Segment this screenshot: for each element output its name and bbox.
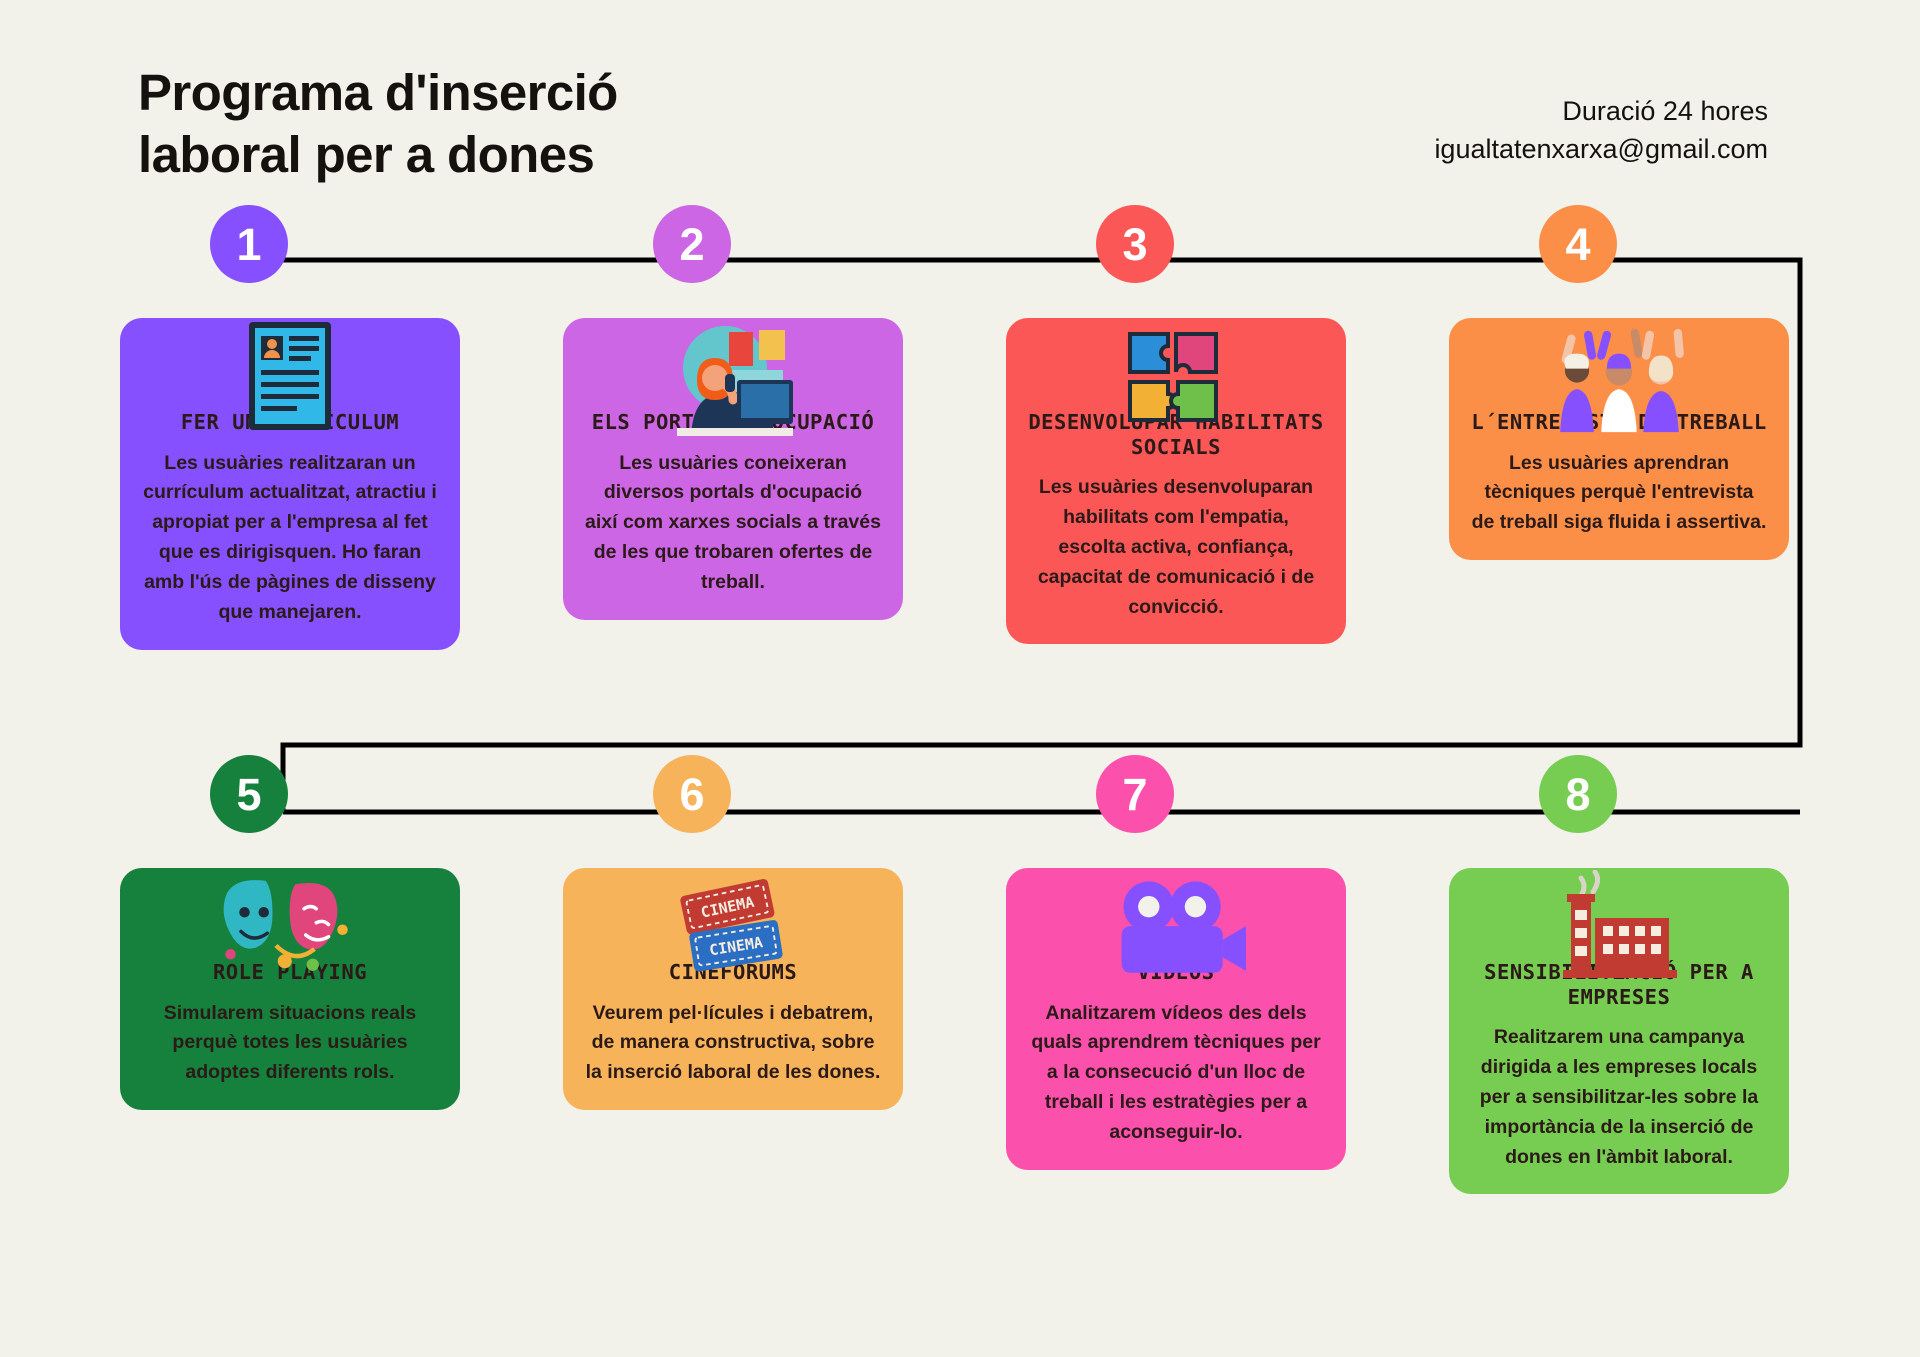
step-body-2: Les usuàries coneixeran diversos portals… [585, 449, 881, 598]
step-card-1[interactable]: FER UN CURRÍCULUM Les usuàries realitzar… [120, 318, 460, 650]
step-body-8: Realitzarem una campanya dirigida a les … [1471, 1023, 1767, 1172]
step-body-4: Les usuàries aprendran tècniques perquè … [1471, 449, 1767, 538]
step-card-8[interactable]: SENSIBILITZACIÓ PER A EMPRESES Realitzar… [1449, 868, 1789, 1194]
step-body-3: Les usuàries desenvoluparan habilitats c… [1028, 473, 1324, 622]
step-body-5: Simularem situacions reals perquè totes … [142, 999, 438, 1088]
page-title: Programa d'inserció laboral per a dones [138, 62, 618, 186]
factory-icon [1549, 858, 1689, 986]
infographic-page: Programa d'inserció laboral per a dones … [0, 0, 1920, 1357]
step-card-5[interactable]: ROLE PLAYING Simularem situacions reals … [120, 868, 460, 1110]
theatre-masks-icon [220, 858, 360, 986]
step-card-6[interactable]: CINEMA CINEMA CINEFORUMS Veurem pel·lícu… [563, 868, 903, 1110]
header-meta: Duració 24 hores igualtatenxarxa@gmail.c… [1434, 92, 1768, 169]
step-number-badge-1: 1 [210, 205, 288, 283]
step-body-6: Veurem pel·lícules i debatrem, de manera… [585, 999, 881, 1088]
step-body-1: Les usuàries realitzaran un currículum a… [142, 449, 438, 628]
step-number-badge-8: 8 [1539, 755, 1617, 833]
step-number-badge-5: 5 [210, 755, 288, 833]
woman-at-desk-icon [663, 308, 803, 436]
step-card-4[interactable]: L´ENTREVISTA DE TREBALL Les usuàries apr… [1449, 318, 1789, 560]
header: Programa d'inserció laboral per a dones … [0, 0, 1920, 190]
puzzle-pieces-icon [1106, 308, 1246, 436]
step-number-badge-3: 3 [1096, 205, 1174, 283]
step-card-3[interactable]: DESENVOLUPAR HABILITATS SOCIALS Les usuà… [1006, 318, 1346, 644]
step-body-7: Analitzarem vídeos des dels quals aprend… [1028, 999, 1324, 1148]
duration-text: Duració 24 hores [1434, 92, 1768, 130]
step-number-badge-7: 7 [1096, 755, 1174, 833]
email-text: igualtatenxarxa@gmail.com [1434, 130, 1768, 168]
cinema-tickets-icon: CINEMA CINEMA [663, 858, 803, 986]
step-card-2[interactable]: ELS PORTALS D´OCUPACIÓ Les usuàries cone… [563, 318, 903, 620]
step-card-7[interactable]: VÍDEOS Analitzarem vídeos des dels quals… [1006, 868, 1346, 1170]
cheering-women-icon [1549, 308, 1689, 436]
step-number-badge-4: 4 [1539, 205, 1617, 283]
resume-document-icon [220, 308, 360, 436]
video-camera-icon [1106, 858, 1246, 986]
step-number-badge-6: 6 [653, 755, 731, 833]
step-number-badge-2: 2 [653, 205, 731, 283]
